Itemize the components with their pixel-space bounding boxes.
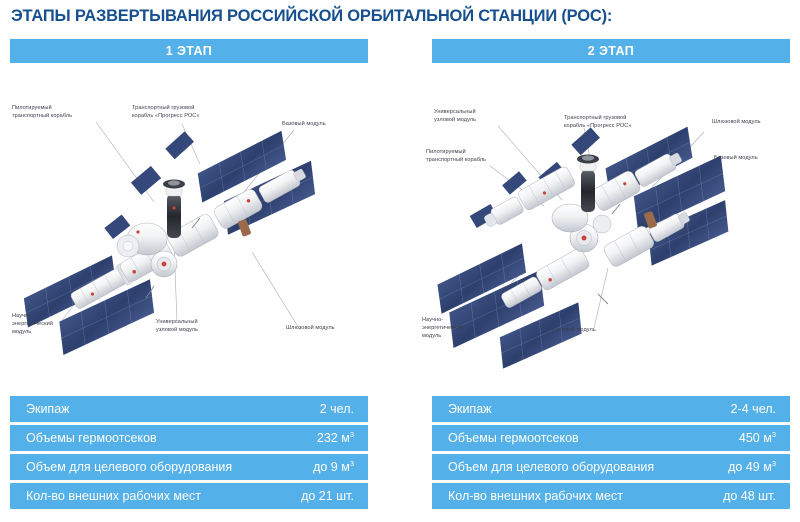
table-row-key: Объемы гермоотсеков — [10, 431, 317, 445]
table-row-key: Кол-во внешних рабочих мест — [432, 489, 723, 503]
table-row-key: Кол-во внешних рабочих мест — [10, 489, 301, 503]
table-row-key: Объем для целевого оборудования — [432, 460, 728, 474]
caption-universal-node-module: Универсальныйузловой модуль — [156, 318, 226, 334]
table-row: Объем для целевого оборудованиядо 9 м3 — [10, 454, 368, 480]
stage-2-illustration-panel: Универсальныйузловой модуль Транспортный… — [412, 72, 800, 372]
table-row-key: Объем для целевого оборудования — [10, 460, 313, 474]
caption-universal-node-module: Универсальныйузловой модуль — [434, 108, 504, 124]
table-row-key: Экипаж — [432, 402, 731, 416]
stage-2-banner-label: 2 ЭТАП — [588, 44, 634, 58]
caption-piloted-ship: Пилотируемыйтранспортный корабль — [426, 148, 508, 164]
infographic-page: ЭТАПЫ РАЗВЕРТЫВАНИЯ РОССИЙСКОЙ ОРБИТАЛЬН… — [0, 0, 800, 522]
stage-2-spec-table: Экипаж2-4 чел.Объемы гермоотсеков450 м3О… — [432, 396, 790, 512]
caption-cargo-ship: Транспортный грузовойкорабль «Прогресс Р… — [132, 104, 224, 120]
caption-cargo-ship: Транспортный грузовойкорабль «Прогресс Р… — [564, 114, 656, 130]
table-row: Объемы гермоотсеков450 м3 — [432, 425, 790, 451]
caption-base-module: Базовый модуль — [282, 120, 354, 128]
table-row: Объемы гермоотсеков232 м3 — [10, 425, 368, 451]
stage-2-banner: 2 ЭТАП — [432, 39, 790, 63]
table-row: Кол-во внешних рабочих местдо 48 шт. — [432, 483, 790, 509]
station-modules — [69, 165, 309, 312]
table-row-value: до 21 шт. — [301, 489, 368, 503]
stage-1-banner: 1 ЭТАП — [10, 39, 368, 63]
table-row-value: до 49 м3 — [728, 459, 790, 474]
table-row-value: 2-4 чел. — [731, 402, 790, 416]
table-row: Экипаж2-4 чел. — [432, 396, 790, 422]
table-row-value: до 48 шт. — [723, 489, 790, 503]
table-row-value: 450 м3 — [739, 430, 790, 445]
table-row-key: Экипаж — [10, 402, 320, 416]
caption-target-module: Целевой модуль — [552, 326, 618, 334]
caption-science-power-module: Научно-энергетическиймодуль — [12, 312, 72, 336]
table-row: Экипаж2 чел. — [10, 396, 368, 422]
table-row-value: 2 чел. — [320, 402, 368, 416]
caption-base-module: Базовый модуль — [714, 154, 786, 162]
table-row-value: 232 м3 — [317, 430, 368, 445]
stage-1-spec-table: Экипаж2 чел.Объемы гермоотсеков232 м3Объ… — [10, 396, 368, 512]
caption-airlock-module: Шлюзовой модуль — [712, 118, 784, 126]
caption-airlock-module: Шлюзовой модуль — [286, 324, 360, 332]
page-title: ЭТАПЫ РАЗВЕРТЫВАНИЯ РОССИЙСКОЙ ОРБИТАЛЬН… — [11, 7, 612, 26]
caption-science-power-module: Научно-энергетическиймодуль — [422, 316, 480, 340]
table-row: Объем для целевого оборудованиядо 49 м3 — [432, 454, 790, 480]
table-row: Кол-во внешних рабочих местдо 21 шт. — [10, 483, 368, 509]
stage-1-banner-label: 1 ЭТАП — [166, 44, 212, 58]
table-row-key: Объемы гермоотсеков — [432, 431, 739, 445]
table-row-value: до 9 м3 — [313, 459, 368, 474]
caption-piloted-ship: Пилотируемыйтранспортный корабль — [12, 104, 92, 120]
stage-1-illustration-panel: Пилотируемыйтранспортный корабль Транспо… — [4, 72, 394, 372]
